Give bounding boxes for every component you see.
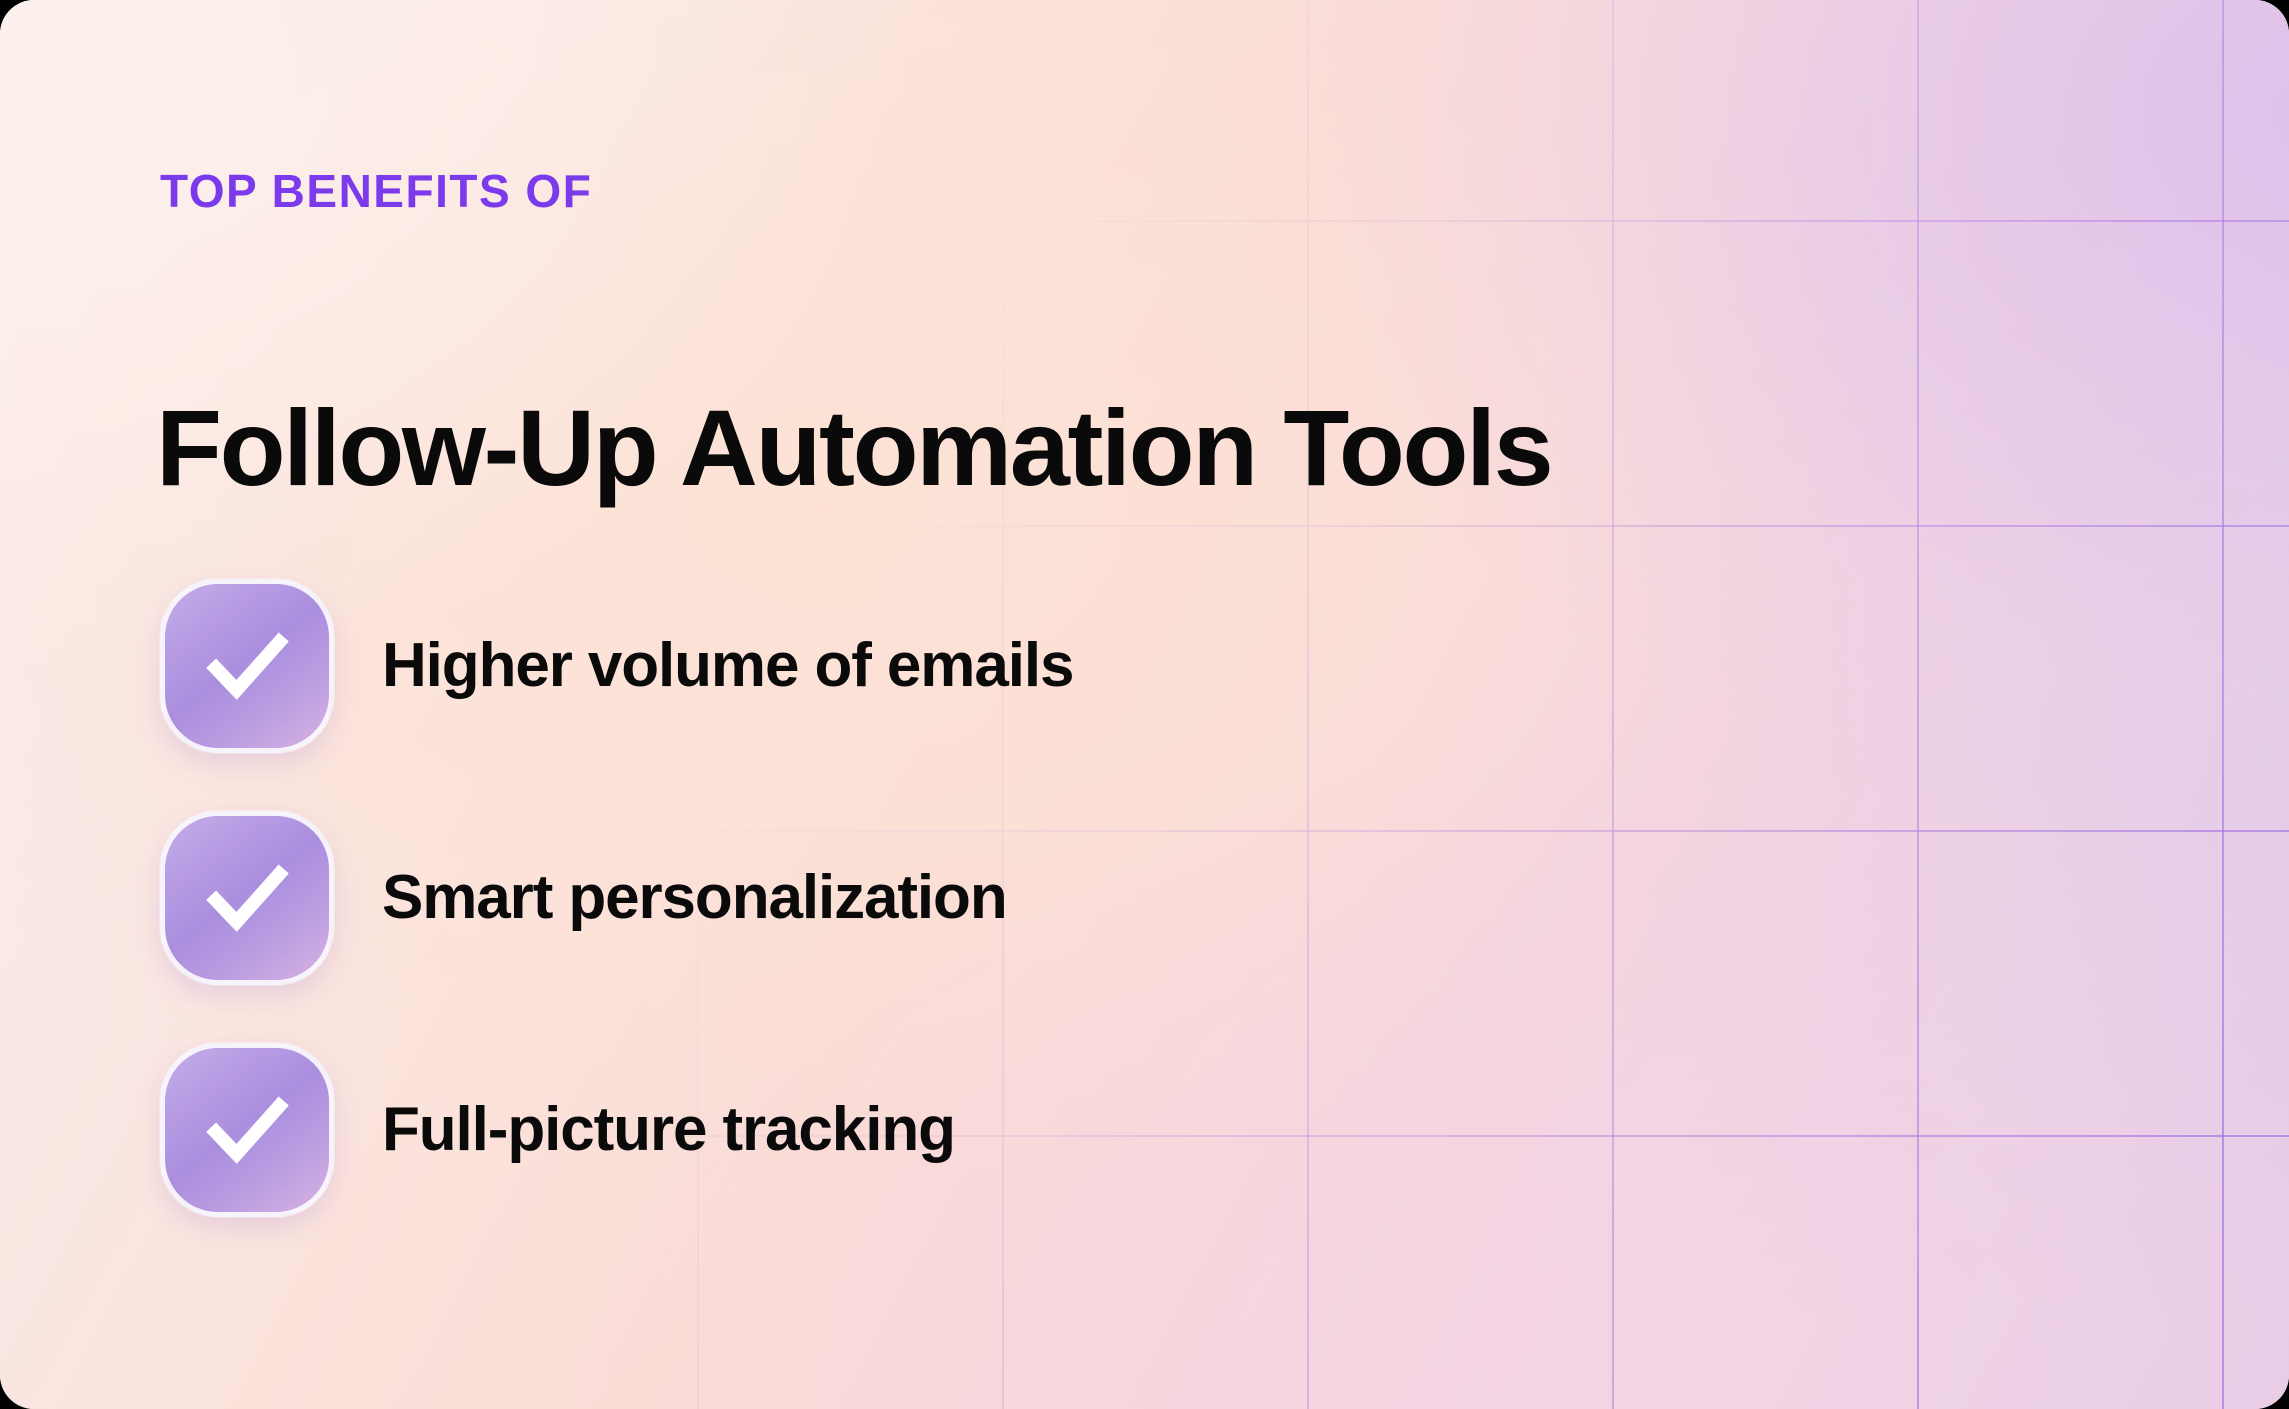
benefits-list: Higher volume of emails Smart personaliz…: [160, 578, 1660, 1274]
screenshot-canvas: TOP BENEFITS OF Follow-Up Automation Too…: [0, 0, 2289, 1409]
list-item: Full-picture tracking: [160, 1042, 1660, 1218]
eyebrow-label: TOP BENEFITS OF: [160, 168, 592, 214]
check-icon: [160, 1043, 334, 1217]
card-content: TOP BENEFITS OF Follow-Up Automation Too…: [160, 0, 2289, 1409]
list-item-label: Higher volume of emails: [382, 633, 1073, 698]
list-item: Smart personalization: [160, 810, 1660, 986]
list-item-label: Smart personalization: [382, 865, 1007, 930]
list-item: Higher volume of emails: [160, 578, 1660, 754]
check-icon: [160, 811, 334, 985]
benefits-card: TOP BENEFITS OF Follow-Up Automation Too…: [0, 0, 2289, 1409]
check-icon: [160, 579, 334, 753]
page-title: Follow-Up Automation Tools: [156, 394, 1551, 502]
list-item-label: Full-picture tracking: [382, 1097, 955, 1162]
